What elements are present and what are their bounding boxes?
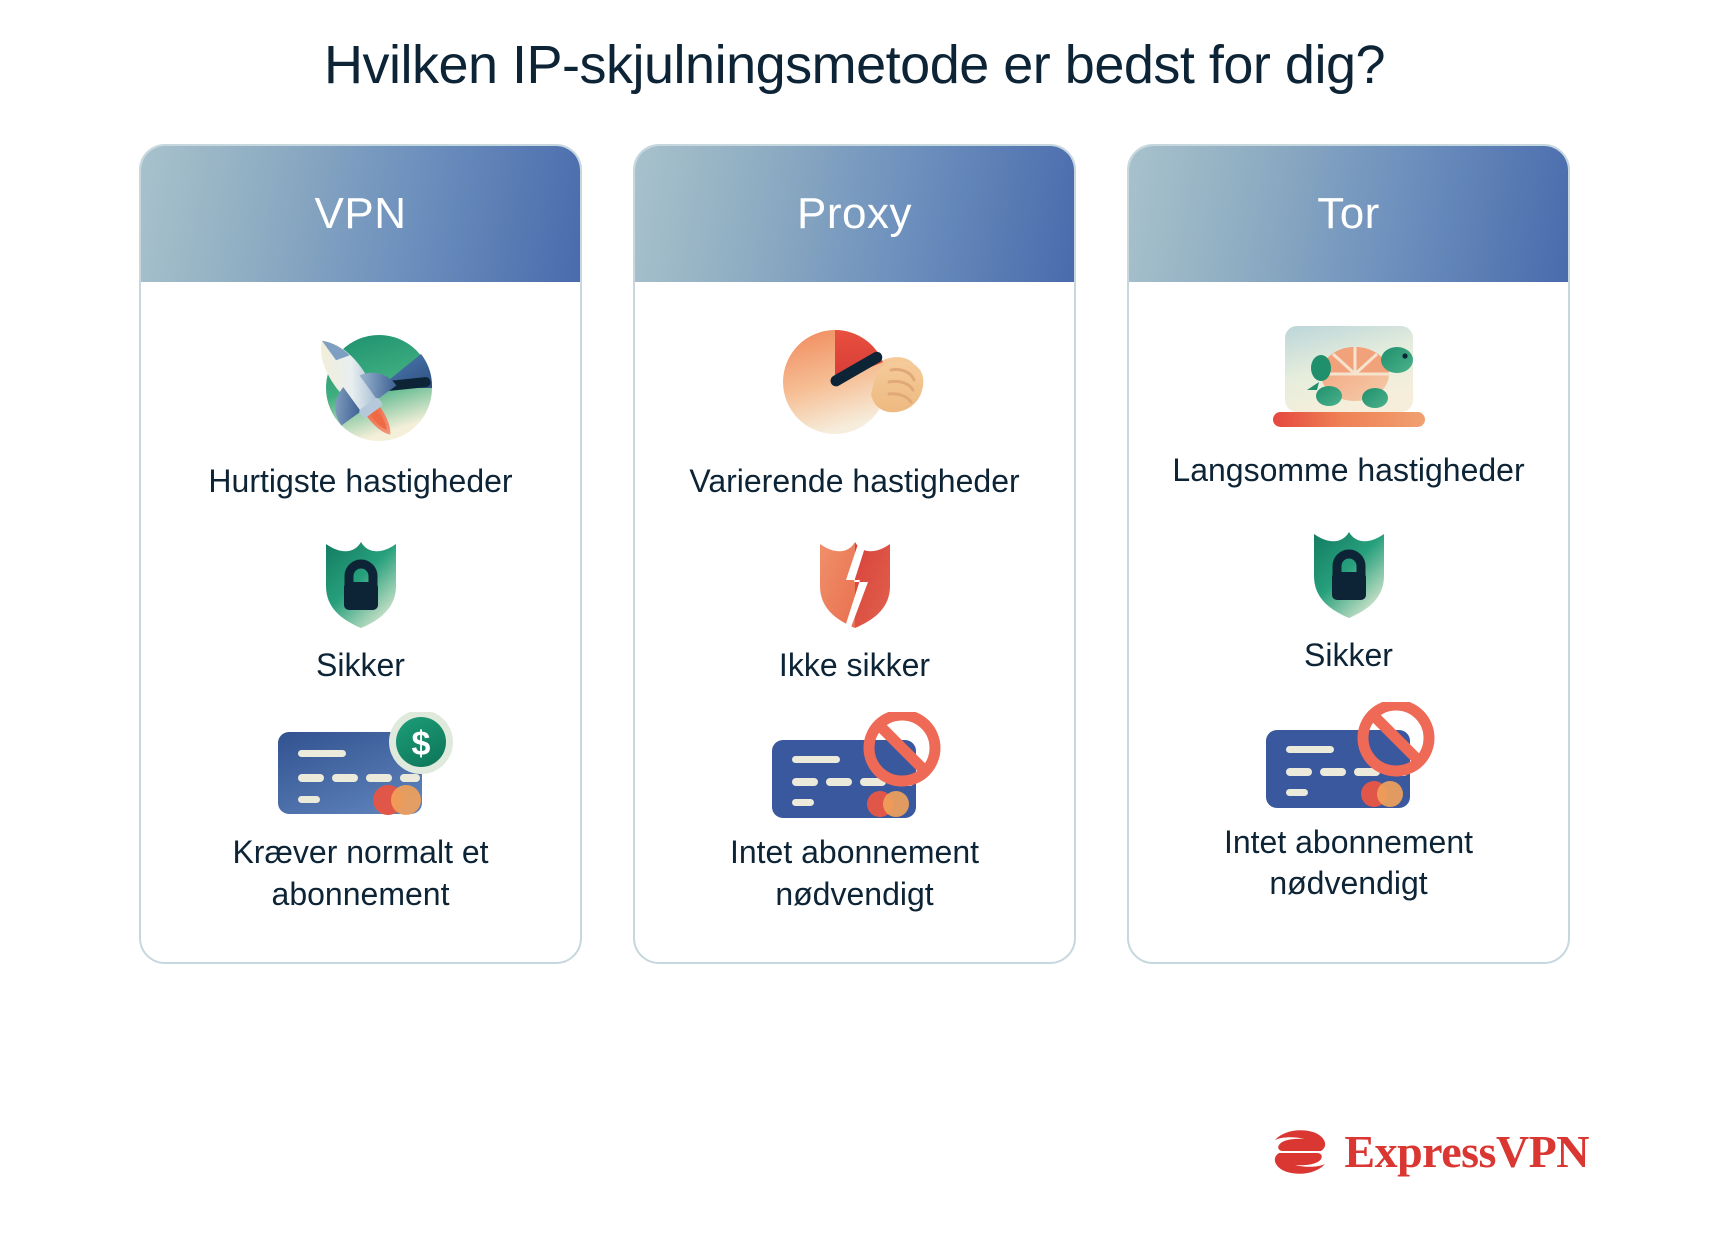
feature-payment-tor: Intet abonnement nødvendigt bbox=[1153, 702, 1544, 905]
feature-label-security-vpn: Sikker bbox=[316, 644, 405, 686]
feature-label-security-tor: Sikker bbox=[1304, 634, 1393, 676]
credit-card-prohibited-icon bbox=[1256, 702, 1441, 812]
card-body-vpn: Hurtigste hastigheder bbox=[141, 282, 580, 962]
card-body-proxy: Varierende hastigheder bbox=[635, 282, 1074, 962]
credit-card-dollar-icon: $ bbox=[268, 712, 453, 822]
expressvpn-logo-mark bbox=[1269, 1126, 1331, 1178]
rocket-speedometer-icon bbox=[271, 320, 451, 450]
card-header-proxy: Proxy bbox=[635, 146, 1074, 282]
feature-label-security-proxy: Ikke sikker bbox=[779, 644, 930, 686]
feature-label-payment-vpn: Kræver normalt et abonnement bbox=[165, 832, 556, 915]
feature-label-payment-proxy: Intet abonnement nødvendigt bbox=[659, 832, 1050, 915]
shield-lock-icon bbox=[306, 524, 416, 634]
card-tor: Tor bbox=[1127, 144, 1570, 964]
hand-speedometer-icon bbox=[765, 320, 945, 450]
svg-text:$: $ bbox=[412, 725, 431, 763]
expressvpn-logo-text: ExpressVPN bbox=[1344, 1125, 1589, 1178]
feature-speed-vpn: Hurtigste hastigheder bbox=[165, 320, 556, 502]
card-proxy: Proxy bbox=[633, 144, 1076, 964]
feature-security-tor: Sikker bbox=[1153, 514, 1544, 676]
feature-speed-tor: Langsomme hastigheder bbox=[1153, 320, 1544, 492]
shield-lock-icon bbox=[1294, 514, 1404, 624]
page-title: Hvilken IP-skjulningsmetode er bedst for… bbox=[0, 0, 1709, 96]
feature-label-speed-vpn: Hurtigste hastigheder bbox=[208, 460, 512, 502]
card-body-tor: Langsomme hastigheder Sikker bbox=[1129, 282, 1568, 962]
feature-label-speed-proxy: Varierende hastigheder bbox=[689, 460, 1019, 502]
feature-speed-proxy: Varierende hastigheder bbox=[659, 320, 1050, 502]
card-title-proxy: Proxy bbox=[797, 189, 912, 239]
comparison-cards-row: VPN bbox=[0, 144, 1709, 964]
feature-label-speed-tor: Langsomme hastigheder bbox=[1172, 450, 1524, 492]
feature-security-proxy: Ikke sikker bbox=[659, 524, 1050, 686]
expressvpn-logo: ExpressVPN bbox=[1269, 1125, 1589, 1178]
feature-payment-vpn: $ Kræver normalt et abonnement bbox=[165, 712, 556, 915]
card-header-vpn: VPN bbox=[141, 146, 580, 282]
feature-label-payment-tor: Intet abonnement nødvendigt bbox=[1153, 822, 1544, 905]
card-title-vpn: VPN bbox=[315, 189, 407, 239]
card-header-tor: Tor bbox=[1129, 146, 1568, 282]
card-vpn: VPN bbox=[139, 144, 582, 964]
feature-security-vpn: Sikker bbox=[165, 524, 556, 686]
broken-shield-icon bbox=[800, 524, 910, 634]
feature-payment-proxy: Intet abonnement nødvendigt bbox=[659, 712, 1050, 915]
credit-card-prohibited-icon bbox=[762, 712, 947, 822]
card-title-tor: Tor bbox=[1317, 189, 1380, 239]
turtle-laptop-icon bbox=[1259, 320, 1439, 440]
